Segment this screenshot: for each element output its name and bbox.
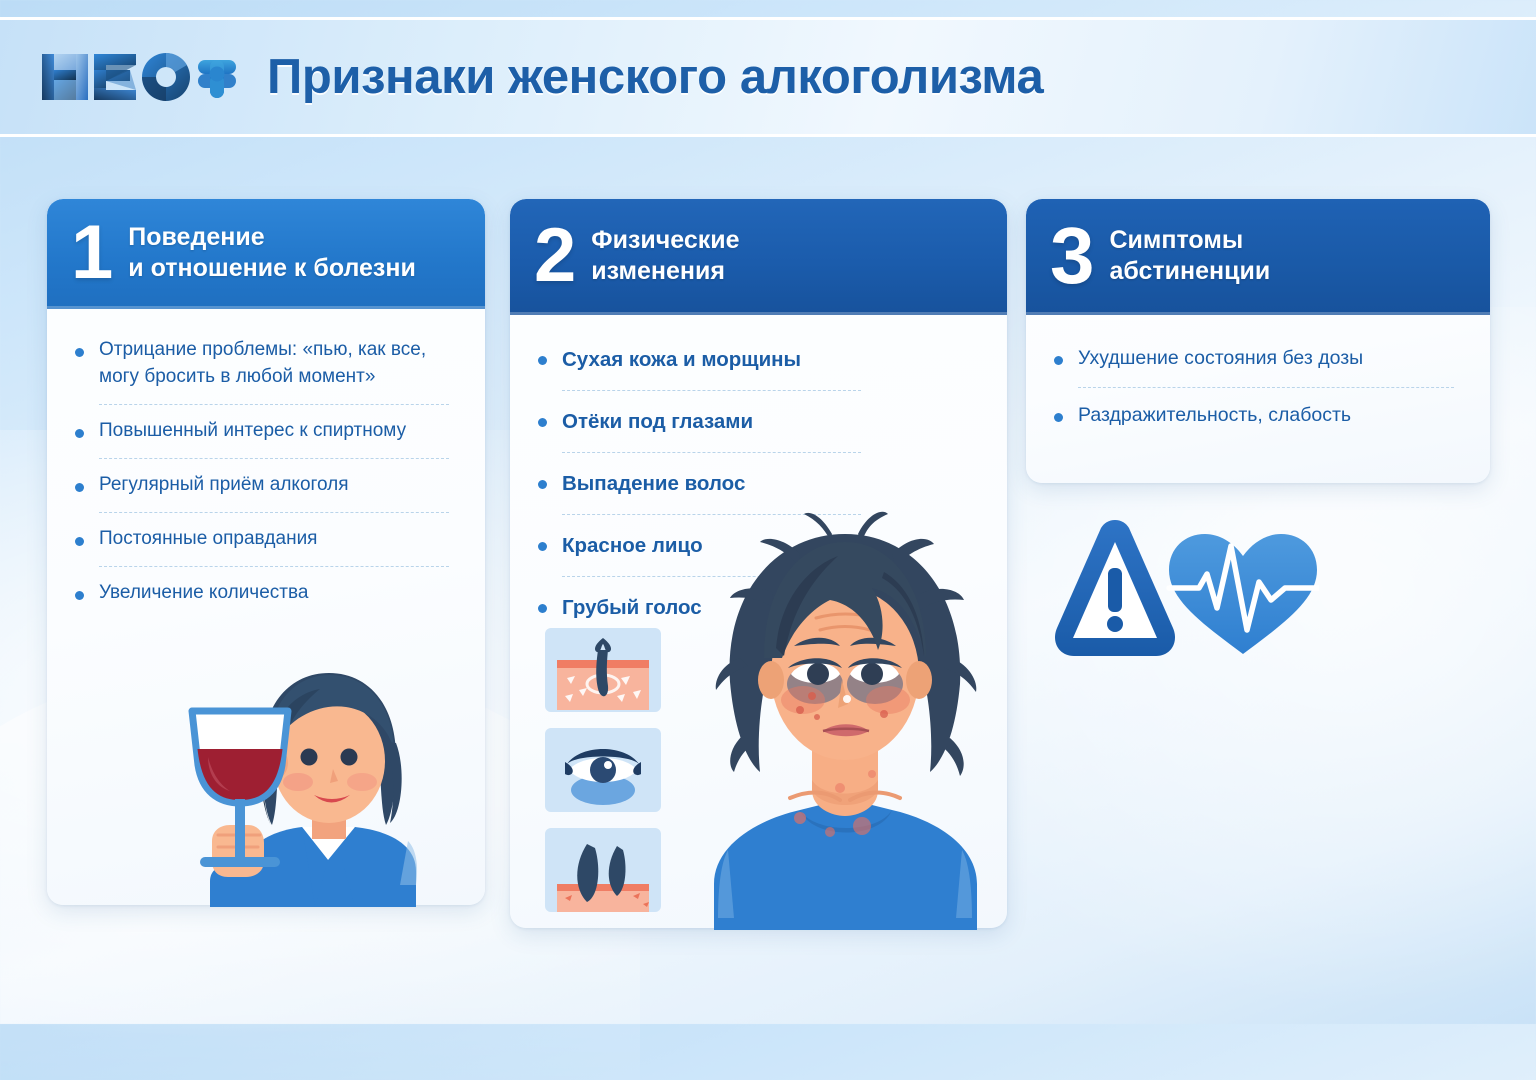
card-title-1: Поведение и отношение к болезни bbox=[128, 222, 416, 285]
separator bbox=[562, 390, 861, 391]
list-item-text: Красное лицо bbox=[562, 531, 981, 560]
card-header-3: 3 Симптомы абстиненции bbox=[1026, 199, 1490, 315]
list-item: Постоянные оправдания bbox=[73, 526, 459, 553]
list-item: Ухудшение состояния без дозы bbox=[1052, 345, 1464, 373]
separator bbox=[562, 576, 861, 577]
card-2-list: Сухая кожа и морщины Отёки под глазами В… bbox=[510, 315, 1007, 623]
separator bbox=[1078, 387, 1454, 388]
separator bbox=[562, 452, 861, 453]
card-withdrawal: 3 Симптомы абстиненции Ухудшение состоян… bbox=[1026, 199, 1490, 483]
list-item-text: Сухая кожа и морщины bbox=[562, 345, 981, 374]
card-title-2: Физические изменения bbox=[591, 225, 739, 288]
bullet-icon bbox=[75, 348, 84, 357]
bullet-icon bbox=[538, 418, 547, 427]
card-title-2-line1: Физические bbox=[591, 225, 739, 257]
list-item-text: Постоянные оправдания bbox=[99, 526, 459, 553]
list-item-text: Отрицание проблемы: «пью, как все, могу … bbox=[99, 337, 459, 391]
list-item: Повышенный интерес к спиртному bbox=[73, 418, 459, 445]
list-item-text: Ухудшение состояния без дозы bbox=[1078, 345, 1464, 373]
list-item: Грубый голос bbox=[536, 593, 981, 622]
page-header: Признаки женского алкоголизма bbox=[0, 17, 1536, 137]
page-title: Признаки женского алкоголизма bbox=[267, 49, 1043, 105]
separator bbox=[99, 566, 449, 567]
list-item-text: Раздражительность, слабость bbox=[1078, 402, 1464, 430]
list-item-text: Выпадение волос bbox=[562, 469, 981, 498]
list-item-text: Грубый голос bbox=[562, 593, 981, 622]
list-item-text: Повышенный интерес к спиртному bbox=[99, 418, 459, 445]
list-item: Раздражительность, слабость bbox=[1052, 402, 1464, 430]
separator bbox=[562, 514, 861, 515]
list-item: Регулярный приём алкоголя bbox=[73, 472, 459, 499]
bullet-icon bbox=[1054, 356, 1063, 365]
bullet-icon bbox=[538, 356, 547, 365]
bullet-icon bbox=[75, 483, 84, 492]
separator bbox=[99, 512, 449, 513]
card-title-3-line2: абстиненции bbox=[1110, 256, 1271, 288]
illustration-warning-heart bbox=[1053, 512, 1319, 667]
card-header-1: 1 Поведение и отношение к болезни bbox=[47, 199, 485, 309]
card-header-2: 2 Физические изменения bbox=[510, 199, 1007, 315]
list-item-text: Отёки под глазами bbox=[562, 407, 981, 436]
card-title-3: Симптомы абстиненции bbox=[1110, 225, 1271, 288]
bullet-icon bbox=[75, 537, 84, 546]
list-item: Отёки под глазами bbox=[536, 407, 981, 436]
neo-plus-logo-icon bbox=[36, 48, 241, 106]
bullet-icon bbox=[538, 542, 547, 551]
card-title-1-line1: Поведение bbox=[128, 222, 416, 254]
card-number-2: 2 bbox=[534, 225, 573, 287]
separator bbox=[99, 458, 449, 459]
card-number-3: 3 bbox=[1050, 223, 1092, 289]
card-title-3-line1: Симптомы bbox=[1110, 225, 1271, 257]
bullet-icon bbox=[75, 591, 84, 600]
card-behavior: 1 Поведение и отношение к болезни Отрица… bbox=[47, 199, 485, 905]
list-item: Увеличение количества bbox=[73, 580, 459, 607]
list-item: Сухая кожа и морщины bbox=[536, 345, 981, 374]
list-item: Отрицание проблемы: «пью, как все, могу … bbox=[73, 337, 459, 391]
card-title-2-line2: изменения bbox=[591, 256, 739, 288]
card-3-list: Ухудшение состояния без дозы Раздражител… bbox=[1026, 315, 1490, 429]
bullet-icon bbox=[538, 480, 547, 489]
header-inner: Признаки женского алкоголизма bbox=[0, 48, 1043, 106]
list-item: Выпадение волос bbox=[536, 469, 981, 498]
list-item: Красное лицо bbox=[536, 531, 981, 560]
card-physical: 2 Физические изменения Сухая кожа и морщ… bbox=[510, 199, 1007, 928]
bullet-icon bbox=[1054, 413, 1063, 422]
separator bbox=[99, 404, 449, 405]
heart-pulse-icon bbox=[1169, 534, 1319, 654]
card-1-list: Отрицание проблемы: «пью, как все, могу … bbox=[47, 309, 485, 607]
card-number-1: 1 bbox=[71, 222, 110, 284]
card-title-1-line2: и отношение к болезни bbox=[128, 253, 416, 285]
bullet-icon bbox=[538, 604, 547, 613]
list-item-text: Регулярный приём алкоголя bbox=[99, 472, 459, 499]
bullet-icon bbox=[75, 429, 84, 438]
list-item-text: Увеличение количества bbox=[99, 580, 459, 607]
warning-triangle-icon bbox=[1055, 520, 1175, 656]
